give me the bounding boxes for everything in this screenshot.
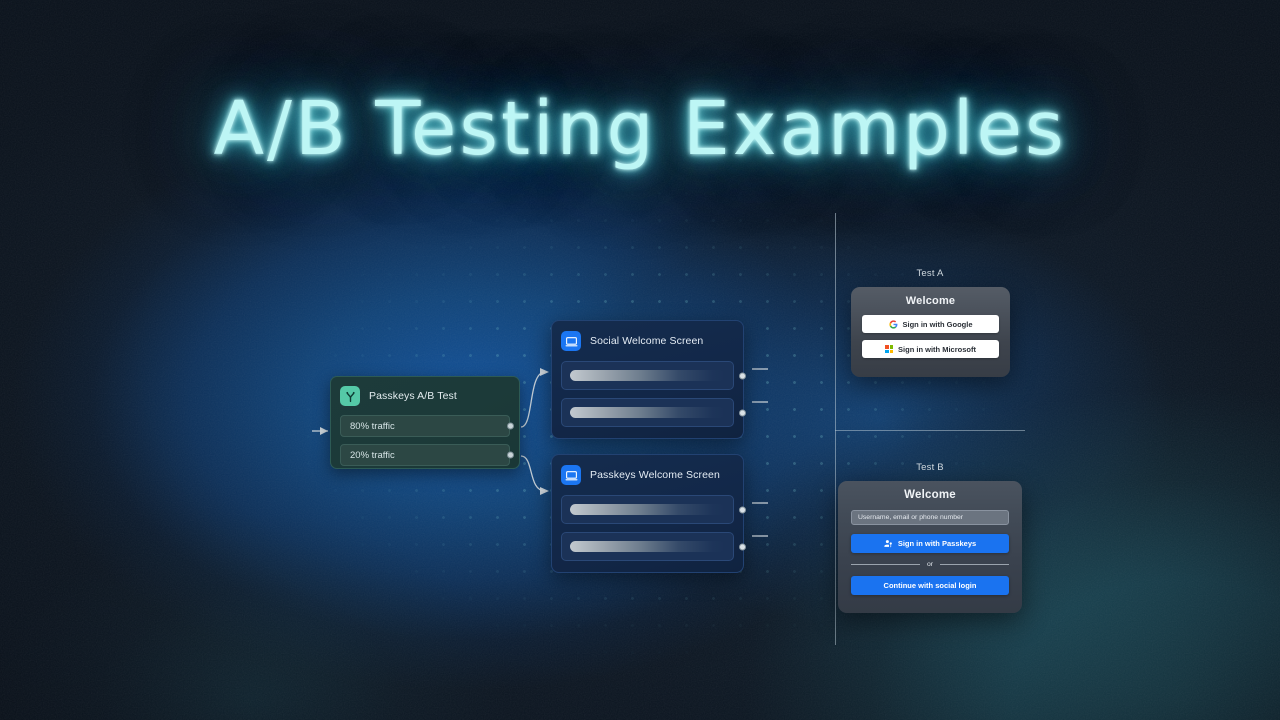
- node-passkeys-title: Passkeys Welcome Screen: [590, 469, 720, 481]
- monitor-screen-icon: [561, 331, 581, 351]
- placeholder-row[interactable]: [561, 398, 734, 427]
- sign-in-microsoft-button[interactable]: Sign in with Microsoft: [862, 340, 999, 358]
- sign-in-microsoft-label: Sign in with Microsoft: [898, 345, 976, 354]
- placeholder-row[interactable]: [561, 532, 734, 561]
- skeleton-bar: [570, 541, 725, 552]
- continue-social-login-button[interactable]: Continue with social login: [851, 576, 1009, 595]
- sign-in-passkeys-button[interactable]: Sign in with Passkeys: [851, 534, 1009, 553]
- monitor-screen-icon: [561, 465, 581, 485]
- arrow-head-passkeys: [540, 487, 549, 495]
- microsoft-logo-icon: [885, 345, 893, 353]
- node-passkeys-welcome-screen[interactable]: Passkeys Welcome Screen: [551, 454, 744, 573]
- branch-label-20: 20% traffic: [350, 450, 395, 461]
- username-input[interactable]: Username, email or phone number: [851, 510, 1009, 525]
- skeleton-bar: [570, 407, 725, 418]
- node-output-port[interactable]: [739, 506, 746, 513]
- skeleton-bar: [570, 504, 725, 515]
- skeleton-bar: [570, 370, 725, 381]
- placeholder-row[interactable]: [561, 495, 734, 524]
- branch-row-80[interactable]: 80% traffic: [340, 415, 510, 437]
- node-output-port[interactable]: [739, 372, 746, 379]
- node-output-port[interactable]: [739, 409, 746, 416]
- node-social-title: Social Welcome Screen: [590, 335, 703, 347]
- node-social-header: Social Welcome Screen: [561, 331, 734, 351]
- arrow-head-in: [320, 427, 328, 435]
- branch-row-20[interactable]: 20% traffic: [340, 444, 510, 466]
- divider-line-right: [940, 564, 1009, 565]
- google-logo-icon: [889, 320, 898, 329]
- branch-label-80: 80% traffic: [350, 421, 395, 432]
- sign-in-google-label: Sign in with Google: [903, 320, 973, 329]
- test-a-preview-card: Welcome Sign in with Google Sign in with…: [851, 287, 1010, 377]
- branch-port-20[interactable]: [507, 452, 514, 459]
- node-ab-test[interactable]: Passkeys A/B Test 80% traffic 20% traffi…: [330, 376, 520, 469]
- split-branch-icon: [340, 386, 360, 406]
- branch-port-80[interactable]: [507, 423, 514, 430]
- canvas: A/B Testing Examples: [0, 0, 1280, 720]
- passkey-person-icon: [884, 539, 893, 548]
- arrow-head-social: [540, 368, 549, 376]
- divider-text: or: [927, 561, 933, 568]
- divider-line-left: [851, 564, 920, 565]
- test-a-heading: Welcome: [862, 295, 999, 307]
- test-a-label: Test A: [850, 268, 1010, 279]
- node-social-welcome-screen[interactable]: Social Welcome Screen: [551, 320, 744, 439]
- test-b-heading: Welcome: [851, 489, 1009, 501]
- username-input-placeholder: Username, email or phone number: [858, 514, 963, 521]
- continue-social-login-label: Continue with social login: [884, 581, 977, 590]
- test-b-label: Test B: [850, 462, 1010, 473]
- node-output-port[interactable]: [739, 543, 746, 550]
- node-ab-test-title: Passkeys A/B Test: [369, 390, 457, 402]
- node-passkeys-header: Passkeys Welcome Screen: [561, 465, 734, 485]
- sign-in-passkeys-label: Sign in with Passkeys: [898, 539, 976, 548]
- sign-in-google-button[interactable]: Sign in with Google: [862, 315, 999, 333]
- node-ab-test-header: Passkeys A/B Test: [340, 386, 510, 406]
- test-b-preview-card: Welcome Username, email or phone number …: [838, 481, 1022, 613]
- or-divider: or: [851, 561, 1009, 568]
- placeholder-row[interactable]: [561, 361, 734, 390]
